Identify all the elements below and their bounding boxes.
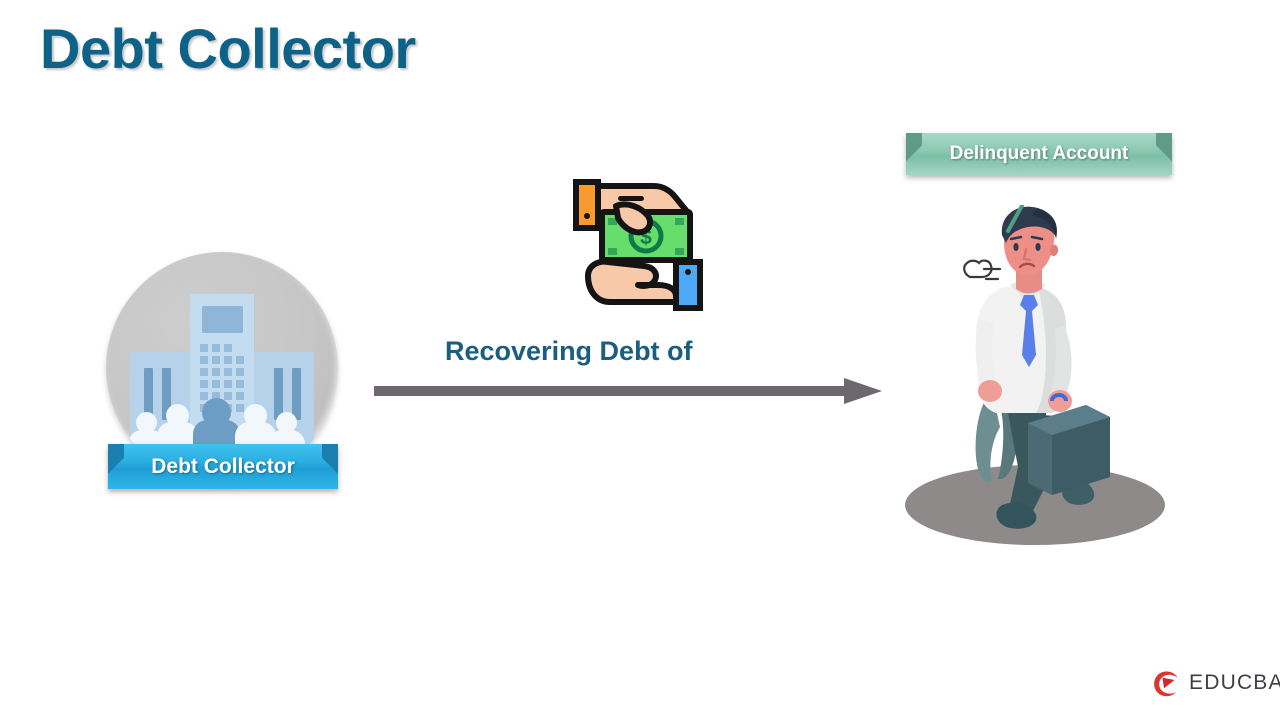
educba-swirl-logo-icon — [1152, 668, 1182, 698]
brand-name-text: EDUCBA — [1189, 671, 1280, 695]
delinquent-account-label-text: Delinquent Account — [950, 143, 1129, 165]
brand-logo: EDUCBA — [1152, 668, 1280, 698]
debt-collector-label-text: Debt Collector — [151, 455, 295, 479]
page-title: Debt Collector — [40, 16, 416, 81]
ribbon-fold-left-icon — [108, 444, 124, 489]
ribbon-fold-right-icon — [322, 444, 338, 489]
slide-canvas: Debt Collector — [0, 0, 1280, 720]
sigh-puff-icon — [964, 261, 1000, 279]
cash-exchange-hands-icon: $ — [558, 172, 718, 312]
flow-caption-text: Recovering Debt of — [445, 336, 693, 367]
ribbon-fold-left-icon — [906, 133, 922, 175]
tired-businessman-walking-icon — [880, 205, 1200, 550]
debt-collector-entity: Debt Collector — [106, 252, 346, 500]
delinquent-account-ribbon-label: Delinquent Account — [906, 133, 1172, 175]
ribbon-fold-right-icon — [1156, 133, 1172, 175]
flow-arrow-icon — [374, 376, 894, 406]
debt-collector-ribbon-label: Debt Collector — [108, 444, 338, 489]
